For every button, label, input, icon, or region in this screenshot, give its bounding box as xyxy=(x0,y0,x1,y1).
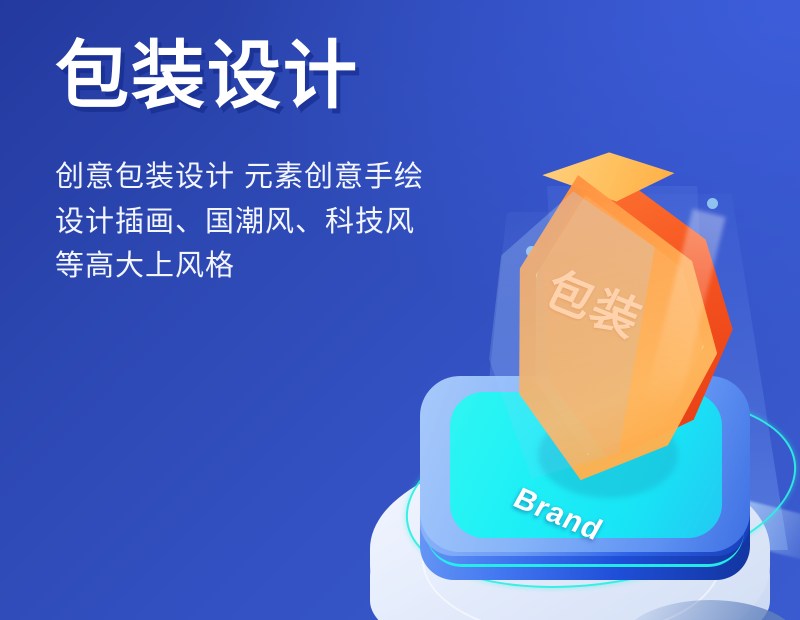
shield-group: 包装 xyxy=(472,152,762,512)
packaging-design-banner: 包装设计 创意包装设计 元素创意手绘 设计插画、国潮风、科技风 等高大上风格 xyxy=(0,0,800,620)
shield-illustration: Brand 包装 xyxy=(380,150,800,620)
page-title: 包装设计 xyxy=(55,38,535,113)
